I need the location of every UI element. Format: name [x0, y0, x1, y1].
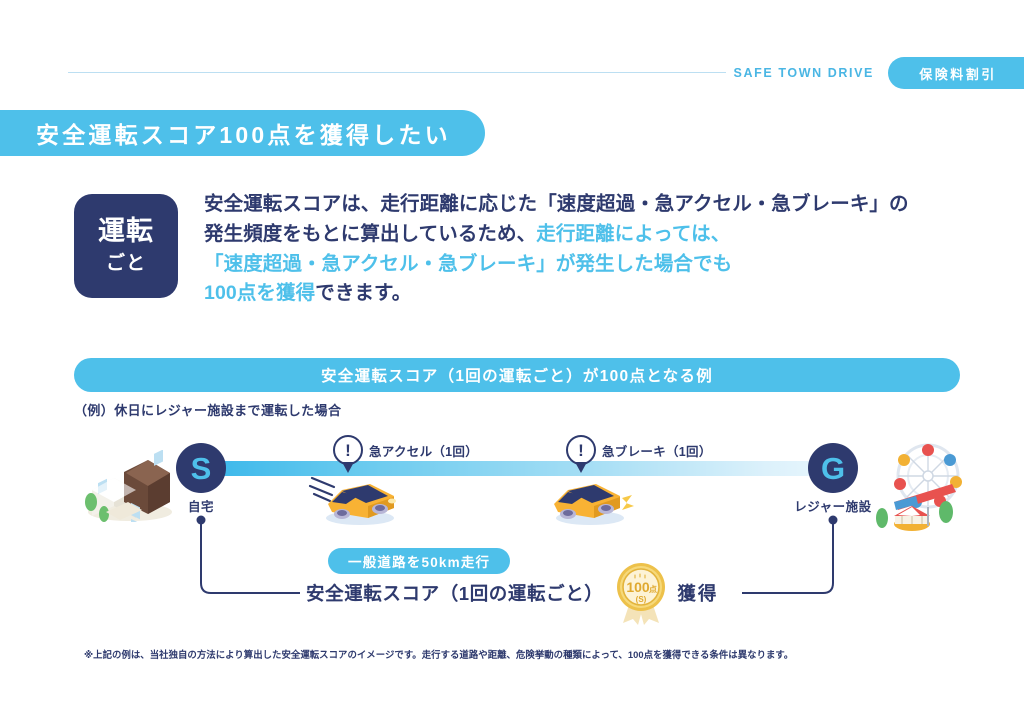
medal-grade: (S)	[636, 595, 647, 604]
intro-line-2-text-b: によっては、	[615, 223, 731, 245]
car-accelerating-icon	[308, 470, 408, 526]
car-braking-icon	[542, 470, 642, 526]
header-divider	[68, 72, 726, 73]
score-get-label: 獲得	[677, 580, 718, 606]
footnote-text: ※上記の例は、当社独自の方法により算出した安全運転スコアのイメージです。走行する…	[84, 648, 954, 661]
intro-block: 運転 ごと 安全運転スコアは、走行距離に応じた「速度超過・急アクセル・急ブレーキ…	[74, 190, 974, 309]
intro-line-1-text: 安全運転スコアは、走行距離に応じた「速度超過・急アクセル・急ブレーキ」の	[204, 193, 909, 215]
start-marker-letter: S	[191, 453, 212, 484]
page-title: 安全運転スコア100点を獲得したい	[36, 116, 451, 150]
page-title-banner: 安全運転スコア100点を獲得したい	[0, 110, 485, 156]
driving-unit-badge: 運転 ごと	[74, 194, 178, 298]
goal-marker: G	[808, 443, 858, 493]
goal-marker-label: レジャー施設	[784, 496, 882, 515]
section-banner-label: 安全運転スコア（1回の運転ごと）が100点となる例	[321, 364, 713, 386]
intro-line-1: 安全運転スコアは、走行距離に応じた「速度超過・急アクセル・急ブレーキ」の	[204, 190, 909, 220]
intro-line-3-highlight: 「速度超過・急アクセル・急ブレーキ」が発生した場合でも	[204, 253, 732, 275]
score-summary-label: 安全運転スコア（1回の運転ごと）	[306, 580, 603, 606]
page-root: SAFE TOWN DRIVE 保険料割引 安全運転スコア100点を獲得したい …	[0, 0, 1024, 726]
page-header: SAFE TOWN DRIVE 保険料割引	[0, 56, 1024, 90]
intro-line-3: 「速度超過・急アクセル・急ブレーキ」が発生した場合でも	[204, 250, 909, 280]
intro-line-4: 100点を獲得できます。	[204, 279, 909, 309]
ferris-wheel-icon	[894, 444, 962, 510]
score-summary-row: 安全運転スコア（1回の運転ごと） 100 点 (S) 獲得	[306, 578, 718, 608]
exclamation-icon: !	[333, 435, 363, 465]
house-icon	[84, 450, 176, 522]
brand-label: SAFE TOWN DRIVE	[734, 66, 874, 80]
intro-line-2: 発生頻度をもとに算出しているため、走行距離によっては、	[204, 220, 909, 250]
carousel-icon	[894, 506, 930, 531]
start-marker: S	[176, 443, 226, 493]
intro-line-4-highlight: 100点を獲得	[204, 282, 315, 304]
rapid-acceleration-alert-icon: !	[333, 435, 363, 465]
intro-line-4-text: できます。	[315, 282, 411, 304]
exclamation-icon: !	[566, 435, 596, 465]
driving-unit-badge-main: 運転	[98, 217, 154, 245]
rapid-braking-label: 急ブレーキ（1回）	[602, 441, 712, 460]
rapid-acceleration-label: 急アクセル（1回）	[369, 441, 478, 460]
intro-line-2-highlight: 走行距離	[536, 223, 614, 245]
section-banner: 安全運転スコア（1回の運転ごと）が100点となる例	[74, 358, 960, 392]
example-caption: （例）休日にレジャー施設まで運転した場合	[74, 400, 341, 419]
medal-score-unit: 点	[649, 584, 657, 594]
tree-icon	[939, 501, 953, 523]
start-marker-label: 自宅	[176, 496, 226, 515]
distance-pill: 一般道路を50km走行	[328, 548, 510, 574]
medal-score-value: 100	[627, 579, 651, 595]
medal-100-icon: 100 点 (S)	[613, 561, 669, 625]
driving-unit-badge-sub: ごと	[106, 248, 146, 275]
insurance-discount-badge: 保険料割引	[888, 57, 1024, 89]
tree-icon	[876, 508, 888, 528]
leisure-facility-icon	[876, 440, 986, 535]
road-line	[196, 461, 844, 476]
intro-line-2-text-a: 発生頻度をもとに算出しているため、	[204, 223, 536, 245]
rapid-braking-alert-icon: !	[566, 435, 596, 465]
intro-paragraph: 安全運転スコアは、走行距離に応じた「速度超過・急アクセル・急ブレーキ」の 発生頻…	[204, 190, 909, 309]
goal-marker-letter: G	[821, 453, 845, 484]
